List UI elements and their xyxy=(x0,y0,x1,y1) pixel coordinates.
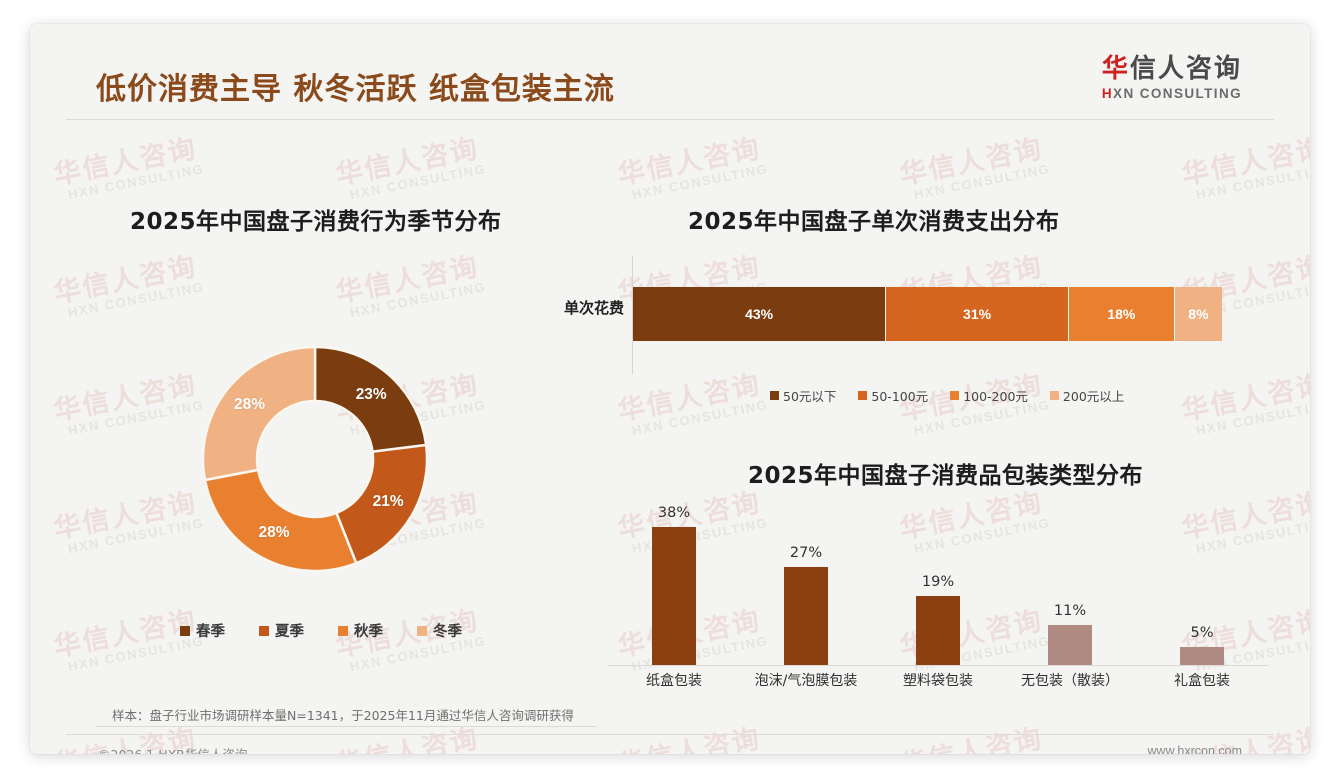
bar-rect[interactable] xyxy=(1048,625,1092,665)
bar-category-label: 泡沫/气泡膜包装 xyxy=(740,670,872,700)
slide-canvas: 华信人咨询HXN CONSULTING华信人咨询HXN CONSULTING华信… xyxy=(30,24,1310,754)
stacked-bar-segment[interactable]: 18% xyxy=(1069,287,1175,341)
stacked-bar-segment[interactable]: 31% xyxy=(886,287,1069,341)
bar-category-label: 塑料袋包装 xyxy=(872,670,1004,700)
stacked-bar-chart-title: 2025年中国盘子单次消费支出分布 xyxy=(688,202,1060,236)
sample-footnote: 样本：盘子行业市场调研样本量N=1341，于2025年11月通过华信人咨询调研获… xyxy=(112,705,574,724)
legend-item[interactable]: 50元以下 xyxy=(770,386,836,405)
donut-chart-title: 2025年中国盘子消费行为季节分布 xyxy=(130,202,502,236)
legend-label: 100-200元 xyxy=(963,386,1028,405)
packaging-x-axis-labels: 纸盒包装泡沫/气泡膜包装塑料袋包装无包装（散装）礼盒包装 xyxy=(608,670,1268,700)
stacked-segment-label: 18% xyxy=(1107,306,1135,322)
stacked-category-label: 单次花费 xyxy=(532,297,624,318)
legend-swatch-icon xyxy=(259,626,269,636)
logo-chinese-text: 华信人咨询 xyxy=(1102,56,1242,83)
bar-column[interactable]: 19% xyxy=(872,505,1004,665)
bar-category-label: 礼盒包装 xyxy=(1136,670,1268,700)
logo-english-text: HXN CONSULTING xyxy=(1102,86,1242,101)
logo-cn-rest: 信人咨询 xyxy=(1130,54,1242,84)
legend-label: 50-100元 xyxy=(871,386,928,405)
stacked-bar-track: 43%31%18%8% xyxy=(633,287,1222,341)
legend-swatch-icon xyxy=(950,391,959,400)
legend-item[interactable]: 50-100元 xyxy=(858,386,928,405)
stacked-bar-segment[interactable]: 43% xyxy=(633,287,886,341)
bar-value-label: 11% xyxy=(1054,603,1086,619)
header-divider xyxy=(66,119,1274,120)
footer-divider xyxy=(66,734,1274,735)
legend-label: 秋季 xyxy=(354,620,383,641)
legend-item[interactable]: 秋季 xyxy=(338,620,383,641)
bar-category-label: 无包装（散装） xyxy=(1004,670,1136,700)
donut-segment[interactable] xyxy=(205,470,356,571)
bar-rect[interactable] xyxy=(652,527,696,665)
bar-value-label: 27% xyxy=(790,545,822,561)
bar-column[interactable]: 11% xyxy=(1004,505,1136,665)
stacked-segment-label: 31% xyxy=(963,306,991,322)
slide-header: 低价消费主导 秋冬活跃 纸盒包装主流 华信人咨询 HXN CONSULTING xyxy=(30,24,1310,120)
legend-swatch-icon xyxy=(770,391,779,400)
watermark-tile: 华信人咨询HXN CONSULTING xyxy=(50,126,205,204)
footer-copyright: ©2026.1 HXR华信人咨询 xyxy=(98,744,247,754)
legend-swatch-icon xyxy=(338,626,348,636)
watermark-tile: 华信人咨询HXN CONSULTING xyxy=(896,126,1051,204)
legend-item[interactable]: 冬季 xyxy=(417,620,462,641)
legend-swatch-icon xyxy=(858,391,867,400)
legend-label: 200元以上 xyxy=(1063,386,1124,405)
season-donut-chart: 23%21%28%28% xyxy=(195,339,435,579)
watermark-tile: 华信人咨询HXN CONSULTING xyxy=(50,244,205,322)
donut-segment[interactable] xyxy=(315,347,426,452)
logo-en-rest: XN CONSULTING xyxy=(1113,86,1242,101)
spend-stacked-chart: 单次花费 43%31%18%8% xyxy=(610,256,1250,374)
legend-item[interactable]: 春季 xyxy=(180,620,225,641)
legend-item[interactable]: 夏季 xyxy=(259,620,304,641)
bar-value-label: 19% xyxy=(922,574,954,590)
logo-en-accent: H xyxy=(1102,86,1113,101)
footnote-divider xyxy=(96,726,596,727)
footer-website: www.hxrcon.com xyxy=(1148,744,1242,754)
legend-item[interactable]: 200元以上 xyxy=(1050,386,1124,405)
watermark-tile: 华信人咨询HXN CONSULTING xyxy=(1178,126,1310,204)
page-title: 低价消费主导 秋冬活跃 纸盒包装主流 xyxy=(96,64,615,108)
bar-column[interactable]: 27% xyxy=(740,505,872,665)
packaging-bar-chart-title: 2025年中国盘子消费品包装类型分布 xyxy=(748,456,1143,490)
bar-value-label: 5% xyxy=(1190,625,1213,641)
bar-column[interactable]: 5% xyxy=(1136,505,1268,665)
watermark-tile: 华信人咨询HXN CONSULTING xyxy=(332,244,487,322)
legend-swatch-icon xyxy=(180,626,190,636)
stacked-segment-label: 8% xyxy=(1188,306,1208,322)
packaging-bar-chart: 38%27%19%11%5% 纸盒包装泡沫/气泡膜包装塑料袋包装无包装（散装）礼… xyxy=(608,494,1268,704)
packaging-baseline xyxy=(608,665,1268,666)
legend-swatch-icon xyxy=(417,626,427,636)
stacked-bar-legend: 50元以下50-100元100-200元200元以上 xyxy=(770,386,1124,405)
stacked-bar-segment[interactable]: 8% xyxy=(1175,287,1222,341)
legend-label: 夏季 xyxy=(275,620,304,641)
watermark-tile: 华信人咨询HXN CONSULTING xyxy=(614,126,769,204)
bar-rect[interactable] xyxy=(784,567,828,665)
bar-value-label: 38% xyxy=(658,505,690,521)
legend-label: 50元以下 xyxy=(783,386,836,405)
company-logo: 华信人咨询 HXN CONSULTING xyxy=(1102,56,1242,101)
packaging-bar-columns: 38%27%19%11%5% xyxy=(608,505,1268,665)
legend-label: 春季 xyxy=(196,620,225,641)
donut-legend: 春季夏季秋季冬季 xyxy=(180,620,462,641)
bar-column[interactable]: 38% xyxy=(608,505,740,665)
watermark-tile: 华信人咨询HXN CONSULTING xyxy=(50,480,205,558)
bar-category-label: 纸盒包装 xyxy=(608,670,740,700)
stacked-segment-label: 43% xyxy=(745,306,773,322)
watermark-tile: 华信人咨询HXN CONSULTING xyxy=(332,126,487,204)
legend-swatch-icon xyxy=(1050,391,1059,400)
bar-rect[interactable] xyxy=(916,596,960,665)
legend-label: 冬季 xyxy=(433,620,462,641)
logo-cn-accent: 华 xyxy=(1102,54,1130,84)
donut-segment[interactable] xyxy=(203,347,315,480)
watermark-tile: 华信人咨询HXN CONSULTING xyxy=(50,362,205,440)
bar-rect[interactable] xyxy=(1180,647,1224,665)
legend-item[interactable]: 100-200元 xyxy=(950,386,1028,405)
